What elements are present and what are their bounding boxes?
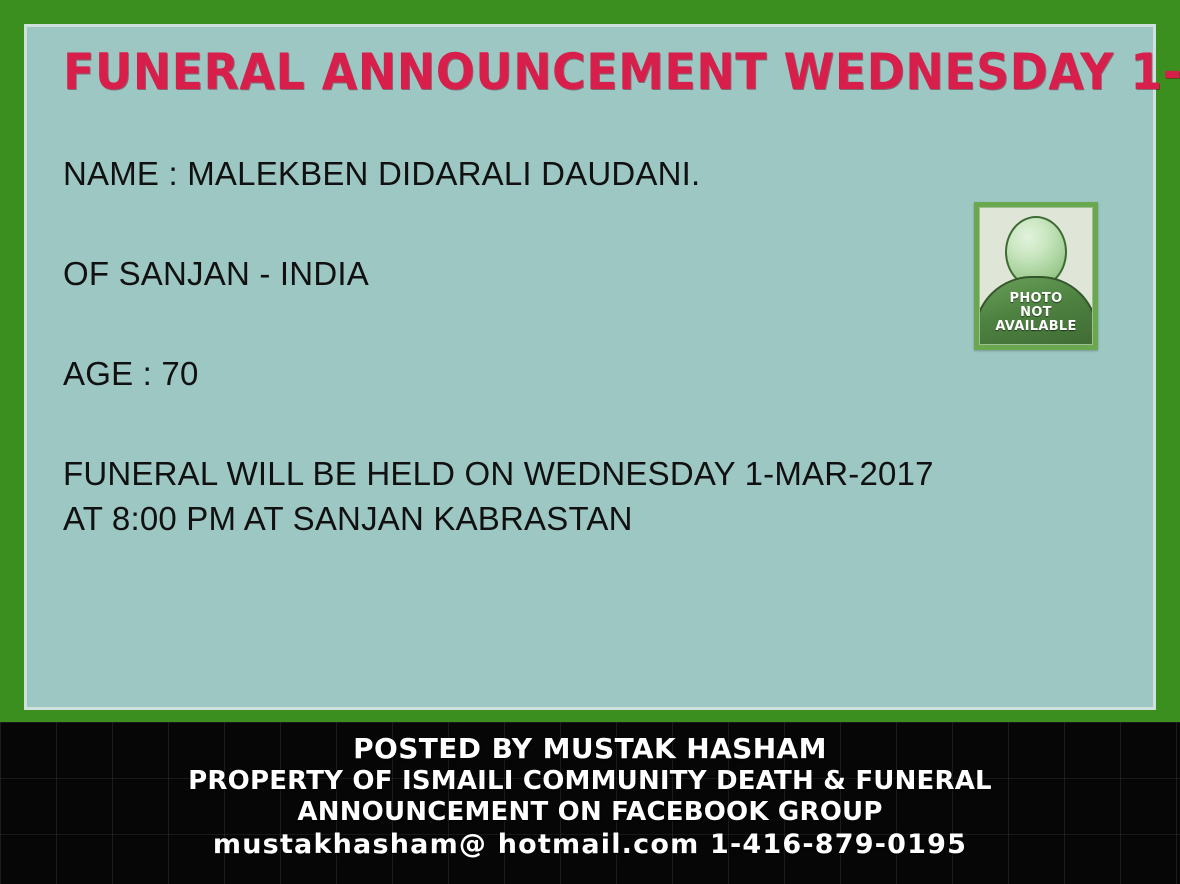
page-title: FUNERAL ANNOUNCEMENT WEDNESDAY 1-MAR-201… xyxy=(63,41,1038,103)
funeral-announcement-poster: FUNERAL ANNOUNCEMENT WEDNESDAY 1-MAR-201… xyxy=(0,0,1180,884)
deceased-origin-line: OF SANJAN - INDIA xyxy=(63,251,1103,296)
footer-posted-by: POSTED BY MUSTAK HASHAM xyxy=(0,732,1180,766)
photo-placeholder: PHOTO NOT AVAILABLE xyxy=(974,202,1098,350)
deceased-name-line: NAME : MALEKBEN DIDARALI DAUDANI. xyxy=(63,151,1103,196)
footer-group-line: ANNOUNCEMENT ON FACEBOOK GROUP xyxy=(0,797,1180,828)
announcement-card: FUNERAL ANNOUNCEMENT WEDNESDAY 1-MAR-201… xyxy=(24,24,1156,710)
footer-property-line: PROPERTY OF ISMAILI COMMUNITY DEATH & FU… xyxy=(0,766,1180,797)
funeral-service-details: FUNERAL WILL BE HELD ON WEDNESDAY 1-MAR-… xyxy=(63,451,1103,541)
photo-placeholder-inner: PHOTO NOT AVAILABLE xyxy=(979,207,1093,345)
photo-not-available-label: PHOTO NOT AVAILABLE xyxy=(980,292,1092,334)
footer-text-block: POSTED BY MUSTAK HASHAM PROPERTY OF ISMA… xyxy=(0,722,1180,862)
announcement-body: NAME : MALEKBEN DIDARALI DAUDANI. OF SAN… xyxy=(63,151,1103,541)
deceased-age-line: AGE : 70 xyxy=(63,351,1103,396)
footer-contact-line: mustakhasham@ hotmail.com 1-416-879-0195 xyxy=(0,828,1180,862)
poster-footer: POSTED BY MUSTAK HASHAM PROPERTY OF ISMA… xyxy=(0,722,1180,884)
